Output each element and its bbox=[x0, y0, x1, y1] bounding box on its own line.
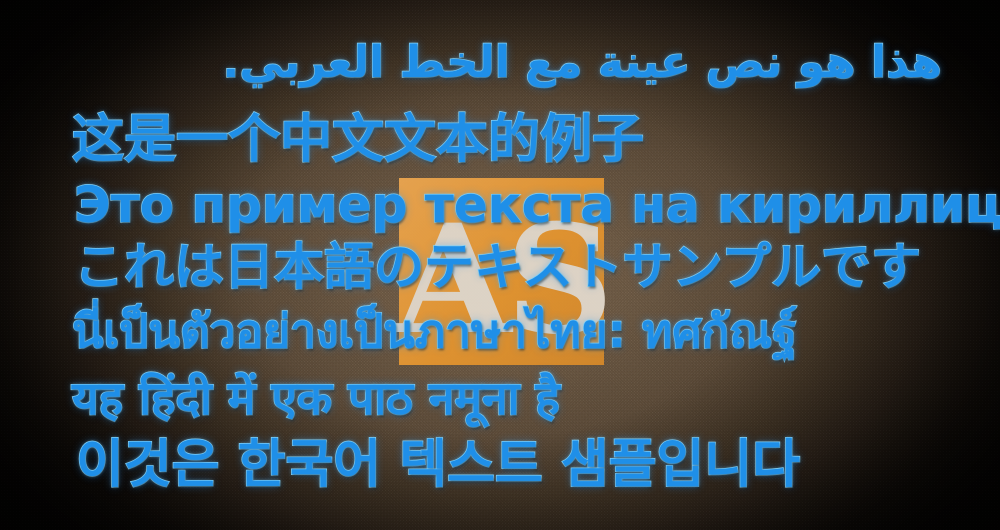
sample-line-cyrillic: Это пример текста на кириллице bbox=[74, 176, 1000, 234]
poster-canvas: AS هذا هو نص عينة مع الخط العربي. 这是一个中文… bbox=[0, 0, 1000, 530]
sample-line-arabic: هذا هو نص عينة مع الخط العربي. bbox=[0, 34, 942, 92]
sample-line-japanese: これは日本語のテキストサンプルです bbox=[74, 238, 1000, 296]
sample-line-chinese: 这是一个中文文本的例子 bbox=[72, 110, 1000, 170]
sample-line-korean: 이것은 한국어 텍스트 샘플입니다 bbox=[76, 432, 1000, 498]
sample-line-thai: นี่เป็นตัวอย่างเป็นภาษาไทย: ทศกัณฐ์ bbox=[72, 300, 1000, 362]
multilingual-text-block: هذا هو نص عينة مع الخط العربي. 这是一个中文文本的… bbox=[0, 0, 1000, 530]
sample-line-hindi: यह हिंदी में एक पाठ नमूना है bbox=[72, 368, 1000, 428]
